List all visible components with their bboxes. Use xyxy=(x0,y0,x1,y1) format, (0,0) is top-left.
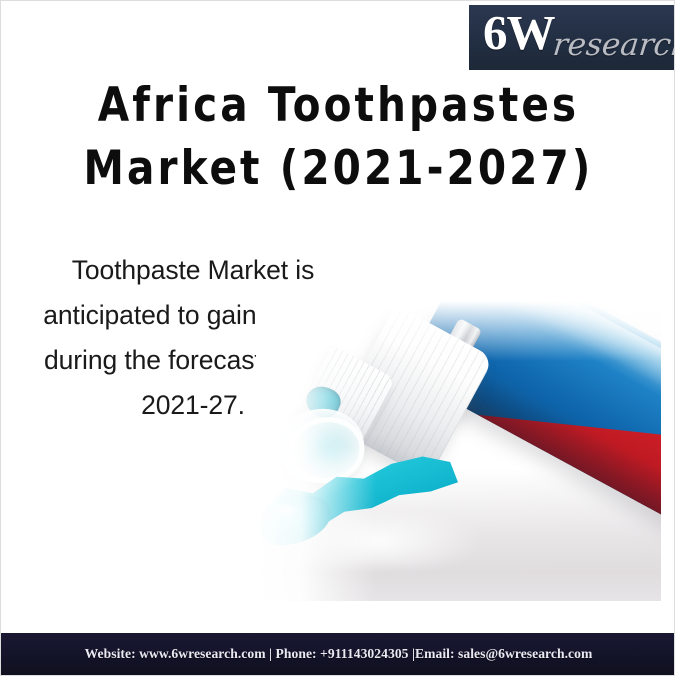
brand-logo: 6W research xyxy=(469,5,675,70)
toothpaste-tube-photo xyxy=(256,301,661,601)
logo-secondary-text: research xyxy=(551,25,675,65)
contact-footer-bar: Website: www.6wresearch.com | Phone: +91… xyxy=(1,633,675,675)
page-title-line-2: Market (2021-2027) xyxy=(15,137,663,200)
contact-footer-text: Website: www.6wresearch.com | Phone: +91… xyxy=(85,646,593,662)
page-title: Africa Toothpastes Market (2021-2027) xyxy=(1,74,675,200)
infographic-canvas: 6W research Africa Toothpastes Market (2… xyxy=(0,0,675,676)
logo-primary-text: 6W xyxy=(483,5,555,64)
photo-top-fade xyxy=(256,301,661,361)
page-title-line-1: Africa Toothpastes xyxy=(15,74,663,137)
